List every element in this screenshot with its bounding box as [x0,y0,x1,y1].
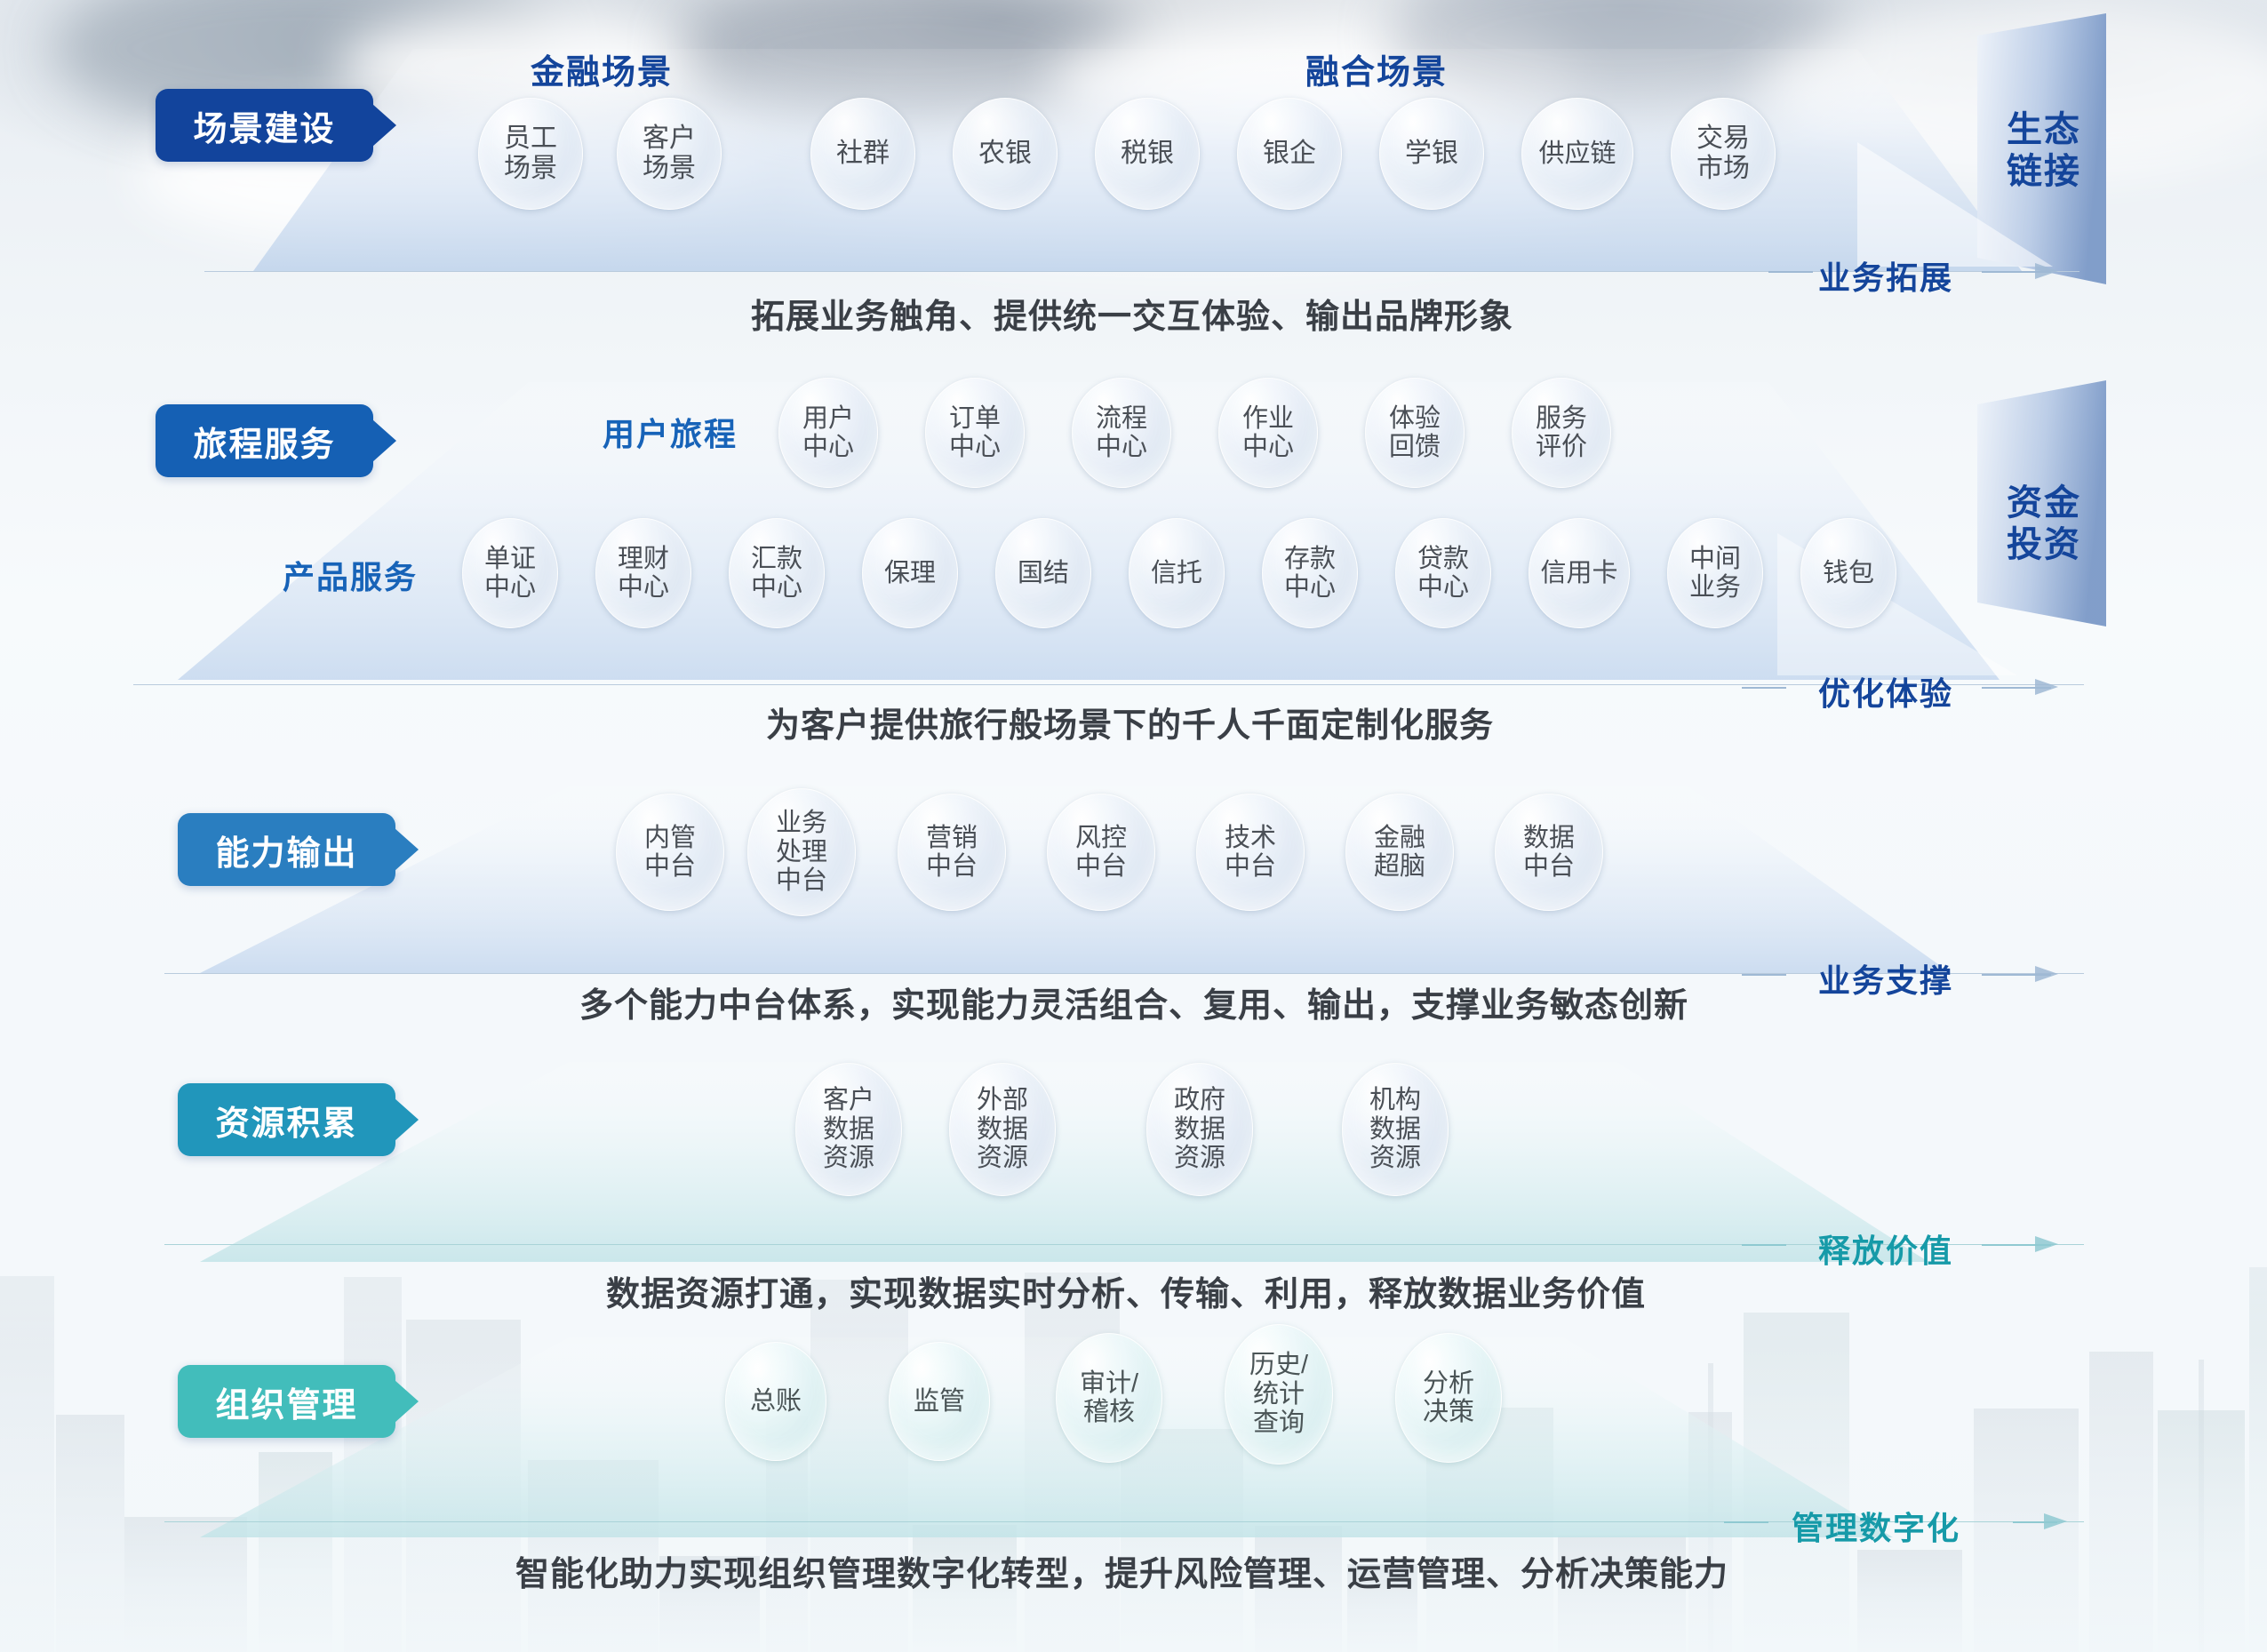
bubble-line: 场景 [643,154,696,184]
stage-tag-label: 旅程服务 [193,417,335,466]
milestone-capability: 业务支撑 [1818,955,1953,1002]
stage-tag-organization[interactable]: 组织管理 [178,1365,395,1438]
milestone-chevron-icon [2035,679,2058,695]
bubble-line: 交易 [1696,124,1750,154]
ribbon-line: 投资 [2007,525,2081,564]
bubble-line: 员工 [504,124,557,154]
bubble-community[interactable]: 社群 [810,98,915,210]
bubble-experience-feedback[interactable]: 体验 回馈 [1365,378,1465,488]
ribbon-line: 链接 [2007,152,2081,191]
milestone-rule [1742,974,1786,976]
bubble-line: 中台 [1225,852,1276,881]
bubble-line: 历史/ [1249,1351,1308,1379]
bubble-wealth-center[interactable]: 理财 中心 [595,518,691,628]
bubble-wallet[interactable]: 钱包 [1800,518,1896,628]
bubble-internal-mgmt-midend[interactable]: 内管 中台 [616,794,724,911]
bubble-external-data-resource[interactable]: 外部 数据 资源 [949,1063,1056,1196]
bubble-line: 保理 [884,559,936,587]
bubble-document-center[interactable]: 单证 中心 [462,518,558,628]
milestone-chevron-icon [2035,1236,2058,1252]
bubble-line: 监管 [914,1387,965,1416]
bubble-government-data-resource[interactable]: 政府 数据 资源 [1146,1063,1253,1196]
bubble-line: 用户 [802,404,854,433]
bubble-line: 服务 [1536,404,1587,433]
bubble-line: 机构 [1369,1086,1421,1114]
milestone-rule [1768,271,1813,273]
tag-arrow-icon [395,1098,419,1141]
milestone-scene: 业务拓展 [1818,252,1953,299]
bubble-line: 单证 [484,545,536,573]
bubble-line: 体验 [1389,404,1441,433]
bubble-line: 社群 [836,139,890,169]
layer-divider [133,684,2084,685]
bubble-line: 内管 [644,824,696,852]
bubble-line: 银企 [1263,139,1316,169]
bubble-institution-data-resource[interactable]: 机构 数据 资源 [1342,1063,1449,1196]
bubble-line: 中台 [926,852,978,881]
tag-arrow-icon [395,1380,419,1423]
bubble-operation-center[interactable]: 作业 中心 [1218,378,1318,488]
bubble-line: 数据 [1369,1115,1421,1144]
bubble-line: 理财 [618,545,669,573]
bubble-line: 统计 [1253,1380,1305,1409]
bubble-line: 资源 [977,1144,1028,1172]
bubble-line: 中间 [1689,545,1741,573]
bubble-line: 决策 [1423,1398,1474,1426]
bubble-line: 中心 [618,573,669,602]
bubble-user-center[interactable]: 用户 中心 [778,378,878,488]
bubble-factoring[interactable]: 保理 [862,518,958,628]
bubble-line: 国结 [1018,559,1069,587]
bubble-intl-settlement[interactable]: 国结 [995,518,1091,628]
bubble-data-midend[interactable]: 数据 中台 [1495,794,1603,911]
bubble-line: 中台 [644,852,696,881]
tag-arrow-icon [372,104,396,147]
bubble-analysis-decision[interactable]: 分析 决策 [1395,1333,1502,1463]
bubble-line: 中心 [484,573,536,602]
bubble-line: 政府 [1174,1086,1225,1114]
bubble-line: 风控 [1075,824,1127,852]
tag-arrow-icon [372,419,396,462]
layer-caption-resource: 数据资源打通，实现数据实时分析、传输、利用，释放数据业务价值 [606,1266,1646,1315]
milestone-rule [1742,1244,1786,1246]
ribbon-line: 资金 [2007,483,2081,523]
stage-tag-resource[interactable]: 资源积累 [178,1083,395,1156]
bubble-edu-bank[interactable]: 学银 [1379,98,1484,210]
bubble-line: 数据 [823,1115,874,1144]
bubble-line: 贷款 [1417,545,1469,573]
bubble-supply-chain[interactable]: 供应链 [1521,98,1633,210]
bubble-line: 数据 [977,1115,1028,1144]
bubble-line: 信托 [1151,559,1202,587]
bubble-line: 业务 [1689,573,1741,602]
row-label-user-journey: 用户旅程 [603,409,738,455]
bubble-credit-card[interactable]: 信用卡 [1529,518,1630,628]
layer-caption-scene: 拓展业务触角、提供统一交互体验、输出品牌形象 [751,289,1513,338]
bubble-line: 查询 [1253,1409,1305,1437]
ribbon-line: 生态 [2007,110,2081,149]
bubble-line: 信用卡 [1540,559,1617,587]
bubble-line: 审计/ [1080,1369,1138,1398]
bubble-technology-midend[interactable]: 技术 中台 [1196,794,1305,911]
bubble-line: 数据 [1174,1115,1225,1144]
bubble-process-center[interactable]: 流程 中心 [1072,378,1171,488]
bubble-agri-bank[interactable]: 农银 [953,98,1058,210]
bubble-order-center[interactable]: 订单 中心 [925,378,1025,488]
bubble-service-rating[interactable]: 服务 评价 [1512,378,1611,488]
bubble-line: 场景 [504,154,557,184]
bubble-history-statistics-query[interactable]: 历史/ 统计 查询 [1225,1324,1333,1464]
bubble-bank-enterprise[interactable]: 银企 [1237,98,1342,210]
milestone-chevron-icon [2035,263,2058,279]
milestone-rule [1724,1521,1768,1523]
layer-caption-journey: 为客户提供旅行般场景下的千人千面定制化服务 [766,698,1494,746]
bubble-line: 汇款 [751,545,802,573]
bubble-line: 营销 [926,824,978,852]
layer-divider [164,1244,2084,1245]
bubble-supervision[interactable]: 监管 [889,1342,990,1461]
bubble-line: 订单 [949,404,1001,433]
bubble-line: 中心 [1096,433,1147,461]
bubble-line: 资源 [1369,1144,1421,1172]
bubble-line: 流程 [1096,404,1147,433]
bubble-line: 金融 [1374,824,1425,852]
bubble-general-ledger[interactable]: 总账 [725,1342,826,1461]
bubble-line: 市场 [1696,154,1750,184]
stage-tag-journey[interactable]: 旅程服务 [156,404,373,477]
milestone-chevron-icon [2035,966,2058,982]
stage-tag-capability[interactable]: 能力输出 [178,813,395,886]
bubble-line: 农银 [978,139,1032,169]
bubble-line: 数据 [1523,824,1575,852]
bubble-line: 外部 [977,1086,1028,1114]
layer-caption-capability: 多个能力中台体系，实现能力灵活组合、复用、输出，支撑业务敏态创新 [579,978,1688,1026]
bubble-line: 中心 [949,433,1001,461]
bubble-trading-market[interactable]: 交易 市场 [1671,98,1776,210]
stage-tag-label: 场景建设 [193,101,335,150]
bubble-line: 客户 [643,124,696,154]
stage-tag-scene[interactable]: 场景建设 [156,89,373,162]
bubble-financial-brain[interactable]: 金融 超脑 [1345,794,1454,911]
bubble-audit-inspection[interactable]: 审计/ 稽核 [1056,1333,1162,1463]
bubble-line: 处理 [776,838,827,866]
bubble-line: 中心 [1242,433,1294,461]
milestone-resource: 释放价值 [1818,1225,1953,1272]
stage-tag-label: 组织管理 [215,1377,357,1426]
bubble-trust[interactable]: 信托 [1129,518,1225,628]
bubble-line: 税银 [1121,139,1174,169]
bubble-line: 中心 [1284,573,1336,602]
bubble-line: 存款 [1284,545,1336,573]
bubble-line: 中心 [1417,573,1469,602]
bubble-deposit-center[interactable]: 存款 中心 [1262,518,1358,628]
group-heading-fusion-scene: 融合场景 [1305,44,1448,93]
bubble-remittance-center[interactable]: 汇款 中心 [729,518,825,628]
bubble-line: 分析 [1423,1369,1474,1398]
bubble-line: 稽核 [1083,1398,1135,1426]
bubble-business-process-midend[interactable]: 业务 处理 中台 [747,788,856,916]
tag-arrow-icon [395,828,419,871]
bubble-line: 作业 [1242,404,1294,433]
bubble-line: 业务 [776,809,827,837]
bubble-line: 资源 [823,1144,874,1172]
group-heading-financial-scene: 金融场景 [531,44,673,93]
bubble-tax-bank[interactable]: 税银 [1095,98,1200,210]
layer-caption-organization: 智能化助力实现组织管理数字化转型，提升风险管理、运营管理、分析决策能力 [515,1546,1728,1595]
milestone-rule [1742,687,1786,689]
row-label-product-service: 产品服务 [283,552,418,598]
bubble-line: 中台 [1075,852,1127,881]
bubble-line: 总账 [750,1387,802,1416]
bubble-line: 中台 [1523,852,1575,881]
bubble-loan-center[interactable]: 贷款 中心 [1395,518,1491,628]
bubble-risk-control-midend[interactable]: 风控 中台 [1047,794,1155,911]
bubble-intermediary-business[interactable]: 中间 业务 [1667,518,1763,628]
bubble-line: 回馈 [1389,433,1441,461]
bubble-line: 客户 [823,1086,874,1114]
ribbon-capital-investment: 资金 投资 [1982,449,2106,600]
bubble-marketing-midend[interactable]: 营销 中台 [898,794,1006,911]
bubble-customer-scene[interactable]: 客户 场景 [617,98,722,210]
layer-divider [164,973,2084,974]
bubble-line: 技术 [1225,824,1276,852]
bubble-customer-data-resource[interactable]: 客户 数据 资源 [795,1063,902,1196]
milestone-chevron-icon [2044,1513,2067,1529]
bubble-line: 中心 [802,433,854,461]
bubble-line: 中心 [751,573,802,602]
bubble-line: 中台 [776,866,827,895]
bubble-line: 供应链 [1538,140,1616,168]
milestone-organization: 管理数字化 [1792,1503,1960,1549]
bubble-line: 评价 [1536,433,1587,461]
bubble-line: 钱包 [1823,559,1874,587]
bubble-line: 资源 [1174,1144,1225,1172]
stage-tag-label: 能力输出 [215,826,357,874]
stage-tag-label: 资源积累 [215,1096,357,1145]
bubble-line: 学银 [1405,139,1458,169]
ribbon-ecosystem-link: 生态 链接 [1982,76,2106,227]
bubble-line: 超脑 [1374,852,1425,881]
bubble-employee-scene[interactable]: 员工 场景 [478,98,583,210]
milestone-journey: 优化体验 [1818,668,1953,714]
